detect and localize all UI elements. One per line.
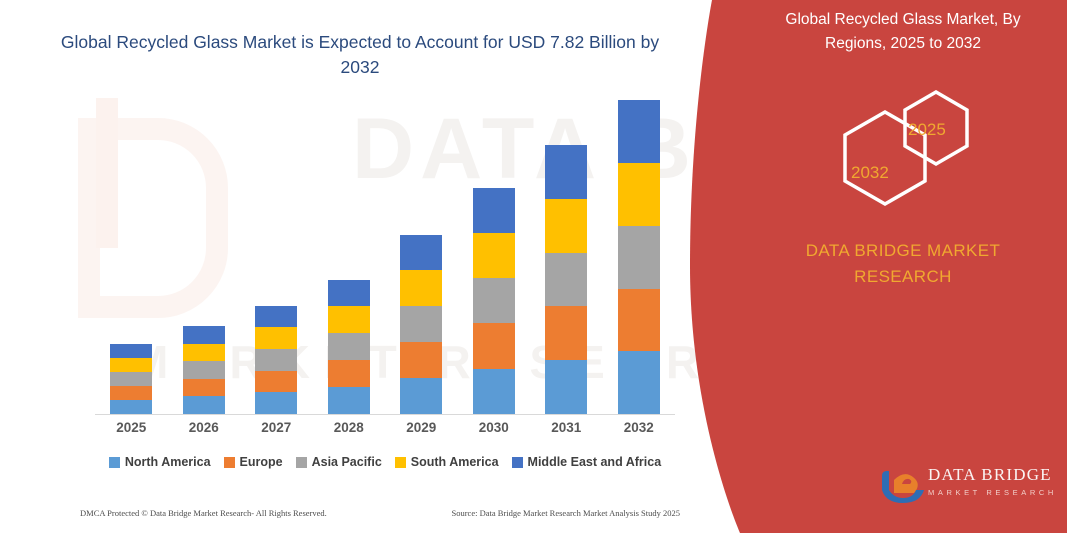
bar-segment (473, 278, 515, 323)
bar-segment (473, 233, 515, 278)
bar-segment (110, 358, 152, 372)
x-tick-2028: 2028 (313, 420, 385, 435)
x-tick-2032: 2032 (603, 420, 675, 435)
legend-item[interactable]: Asia Pacific (296, 455, 382, 469)
x-tick-2029: 2029 (385, 420, 457, 435)
legend-label: Middle East and Africa (528, 455, 662, 469)
bar-segment (110, 400, 152, 414)
brand-line-1: DATA BRIDGE MARKET (758, 238, 1048, 264)
chart-legend: North AmericaEuropeAsia PacificSouth Ame… (95, 455, 675, 469)
legend-label: South America (411, 455, 499, 469)
legend-label: Asia Pacific (312, 455, 382, 469)
bar-segment (110, 386, 152, 400)
bar-segment (400, 306, 442, 342)
stacked-bar (183, 326, 225, 414)
legend-item[interactable]: South America (395, 455, 499, 469)
bar-segment (618, 289, 660, 352)
stacked-bar (545, 145, 587, 414)
bar-segment (473, 323, 515, 368)
red-panel-content: Global Recycled Glass Market, By Regions… (740, 0, 1067, 533)
brand-line-2: RESEARCH (758, 264, 1048, 290)
logo-sub-text: MARKET RESEARCH (928, 488, 1057, 497)
bar-segment (618, 226, 660, 289)
axis-baseline (95, 414, 675, 415)
brand-name: DATA BRIDGE MARKET RESEARCH (758, 238, 1048, 290)
bar-segment (328, 333, 370, 360)
bar-column-2027 (240, 100, 312, 414)
legend-swatch-icon (296, 457, 307, 468)
bar-segment (183, 344, 225, 361)
bar-column-2031 (530, 100, 602, 414)
bar-segment (545, 199, 587, 253)
bar-segment (183, 326, 225, 344)
legend-item[interactable]: North America (109, 455, 211, 469)
x-tick-2030: 2030 (458, 420, 530, 435)
bar-segment (618, 351, 660, 414)
stacked-bar (255, 306, 297, 414)
hexagon-small-label: 2025 (908, 120, 946, 140)
bar-segment (545, 306, 587, 360)
panel-title: Global Recycled Glass Market, By Regions… (758, 8, 1048, 56)
hexagon-group: 2025 2032 (740, 90, 1067, 215)
legend-item[interactable]: Europe (224, 455, 283, 469)
x-tick-2026: 2026 (168, 420, 240, 435)
bar-segment (255, 327, 297, 349)
footer: DMCA Protected © Data Bridge Market Rese… (80, 508, 680, 518)
bar-segment (328, 280, 370, 307)
bar-group (95, 100, 675, 414)
bar-column-2032 (603, 100, 675, 414)
bar-segment (400, 270, 442, 306)
stacked-bar (328, 280, 370, 414)
legend-item[interactable]: Middle East and Africa (512, 455, 662, 469)
bar-column-2026 (168, 100, 240, 414)
legend-swatch-icon (224, 457, 235, 468)
bar-column-2030 (458, 100, 530, 414)
bar-segment (400, 235, 442, 271)
bar-segment (545, 253, 587, 307)
company-logo: DATA BRIDGE MARKET RESEARCH (880, 460, 1060, 510)
logo-main-text: DATA BRIDGE (928, 465, 1057, 485)
stacked-bar (110, 344, 152, 414)
footer-source: Source: Data Bridge Market Research Mark… (451, 508, 680, 518)
legend-label: North America (125, 455, 211, 469)
logo-mark-icon (880, 460, 926, 504)
bar-segment (255, 392, 297, 414)
bar-column-2029 (385, 100, 457, 414)
legend-swatch-icon (109, 457, 120, 468)
bar-segment (618, 163, 660, 226)
bar-segment (400, 342, 442, 378)
stacked-bar (473, 188, 515, 414)
x-tick-2031: 2031 (530, 420, 602, 435)
x-axis-labels: 20252026202720282029203020312032 (95, 420, 675, 435)
bar-segment (255, 349, 297, 371)
bar-segment (255, 371, 297, 393)
footer-copyright: DMCA Protected © Data Bridge Market Rese… (80, 508, 327, 518)
bar-segment (328, 387, 370, 414)
bar-segment (473, 188, 515, 233)
chart-panel: Global Recycled Glass Market is Expected… (0, 0, 740, 533)
bar-segment (400, 378, 442, 414)
stacked-bar (618, 100, 660, 414)
bar-segment (110, 372, 152, 386)
bar-segment (183, 361, 225, 379)
hexagon-large-label: 2032 (851, 163, 889, 183)
bar-column-2028 (313, 100, 385, 414)
plot-area (95, 100, 675, 415)
bar-segment (183, 379, 225, 397)
x-tick-2025: 2025 (95, 420, 167, 435)
bar-segment (328, 360, 370, 387)
x-tick-2027: 2027 (240, 420, 312, 435)
stacked-bar (400, 235, 442, 414)
bar-segment (110, 344, 152, 358)
chart-title: Global Recycled Glass Market is Expected… (60, 30, 660, 80)
legend-swatch-icon (395, 457, 406, 468)
legend-swatch-icon (512, 457, 523, 468)
bar-segment (328, 306, 370, 333)
bar-segment (473, 369, 515, 414)
legend-label: Europe (240, 455, 283, 469)
logo-wordmark: DATA BRIDGE MARKET RESEARCH (928, 465, 1057, 497)
bar-segment (183, 396, 225, 414)
bar-segment (255, 306, 297, 328)
infographic-root: DATA BRIDGE MARKET RESEARCH Global Recyc… (0, 0, 1067, 533)
bar-segment (545, 145, 587, 199)
bar-segment (618, 100, 660, 163)
bar-column-2025 (95, 100, 167, 414)
bar-segment (545, 360, 587, 414)
